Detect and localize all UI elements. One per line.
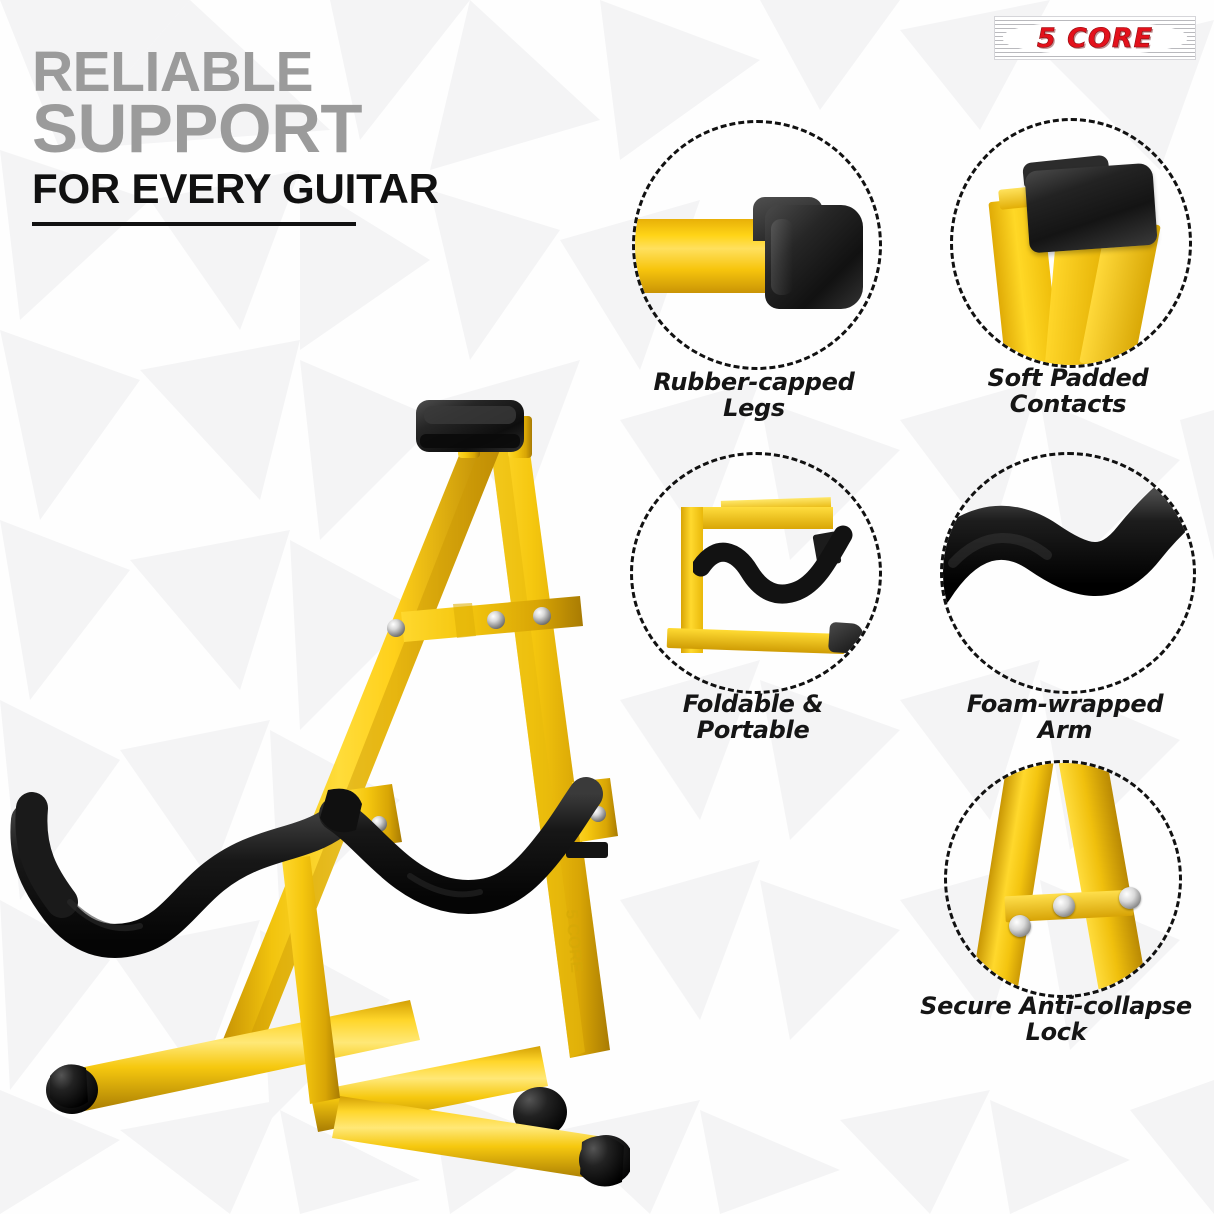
soft-pad (1024, 163, 1157, 254)
lock-leg-left (970, 760, 1055, 998)
feature-label-5: Secure Anti-collapse Lock (916, 994, 1196, 1046)
feature-soft-padded-contacts: Soft Padded Contacts (950, 118, 1192, 368)
feature-label-2-line1: Soft Padded (988, 364, 1149, 392)
feature-label-5-line2: Lock (1026, 1018, 1087, 1046)
feature-anti-collapse-lock: Secure Anti-collapse Lock (944, 760, 1182, 998)
feature-bubble-5 (944, 760, 1182, 998)
rivet-3 (1119, 887, 1141, 909)
headline-line-3: FOR EVERY GUITAR (32, 169, 592, 208)
feature-label-2: Soft Padded Contacts (950, 366, 1186, 418)
feature-foam-wrapped-arm: Foam-wrapped Arm (940, 452, 1196, 694)
feature-bubble-1 (632, 120, 882, 370)
feature-label-4: Foam-wrapped Arm (940, 692, 1190, 744)
headline-underline (32, 222, 356, 226)
feature-rubber-capped-legs: Rubber-capped Legs (632, 120, 882, 370)
headline-block: RELIABLE SUPPORT FOR EVERY GUITAR (32, 46, 592, 226)
feature-label-1: Rubber-capped Legs (632, 370, 876, 422)
infographic-canvas: 5 CORE RELIABLE SUPPORT FOR EVERY GUITAR (0, 0, 1214, 1214)
photo-folded-stand (633, 455, 879, 691)
rivet-2 (1053, 895, 1075, 917)
feature-foldable-portable: Foldable & Portable (630, 452, 882, 694)
lock-leg-right (1058, 760, 1149, 998)
feature-label-2-line2: Contacts (1010, 390, 1126, 418)
brand-logo: 5 CORE (994, 16, 1196, 60)
feature-label-3: Foldable & Portable (630, 692, 876, 744)
photo-soft-padded-contact (953, 121, 1189, 365)
folded-foam-arm (693, 525, 863, 635)
photo-lock-joint (947, 763, 1179, 995)
feature-bubble-4 (940, 452, 1196, 694)
foam-arm-shape (940, 485, 1196, 665)
brand-name: 5 CORE (994, 16, 1196, 60)
feature-bubble-2 (950, 118, 1192, 368)
rivet-1 (1009, 915, 1031, 937)
headline-line-2: SUPPORT (32, 97, 592, 161)
product-image-guitar-stand: 5 CORE (10, 390, 630, 1190)
feature-label-5-line1: Secure Anti-collapse (920, 992, 1192, 1020)
photo-rubber-capped-leg (635, 123, 879, 367)
feature-bubble-3 (630, 452, 882, 694)
photo-foam-arm (943, 455, 1193, 691)
rubber-cap (765, 205, 863, 309)
